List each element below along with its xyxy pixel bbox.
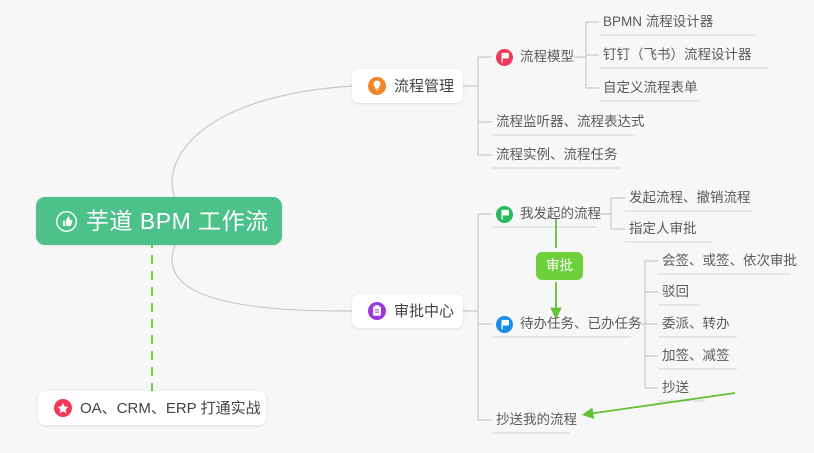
branch-label: 流程管理: [394, 79, 454, 94]
root-label: 芋道 BPM 工作流: [86, 210, 269, 233]
approval-badge[interactable]: 审批: [536, 252, 583, 280]
node-label: 待办任务、已办任务: [520, 317, 642, 331]
node-reject[interactable]: 驳回: [658, 278, 695, 306]
node-label: 加签、减签: [662, 349, 730, 363]
approval-badge-label: 审批: [546, 259, 573, 273]
node-oa-crm-erp[interactable]: OA、CRM、ERP 打通实战: [38, 391, 266, 425]
node-my-initiated-process[interactable]: 我发起的流程: [492, 200, 607, 228]
node-label: BPMN 流程设计器: [603, 15, 713, 29]
node-label: 自定义流程表单: [603, 81, 698, 95]
node-todo-done-tasks[interactable]: 待办任务、已办任务: [492, 310, 648, 338]
node-label: 流程监听器、流程表达式: [496, 115, 645, 129]
branch-approval-center[interactable]: 审批中心: [352, 294, 463, 328]
branch-process-management[interactable]: 流程管理: [352, 69, 463, 103]
node-process-instance-task[interactable]: 流程实例、流程任务: [492, 141, 624, 169]
node-cc[interactable]: 抄送: [658, 374, 695, 402]
node-countersign-orsign-sequential[interactable]: 会签、或签、依次审批: [658, 247, 803, 275]
node-bpmn-designer[interactable]: BPMN 流程设计器: [599, 8, 719, 36]
flag-icon: [496, 49, 513, 66]
mindmap-canvas: 芋道 BPM 工作流 流程管理 审批中心 流程模型: [0, 0, 814, 453]
link-root-to-approval-center: [172, 245, 352, 311]
node-label: 指定人审批: [629, 222, 697, 236]
node-label: 流程实例、流程任务: [496, 148, 618, 162]
node-label: 抄送: [662, 381, 689, 395]
node-assignee-approval[interactable]: 指定人审批: [625, 215, 703, 243]
thumbs-up-icon: [56, 211, 77, 232]
node-label: 我发起的流程: [520, 207, 601, 221]
node-label: 抄送我的流程: [496, 413, 577, 427]
node-cc-to-me-process[interactable]: 抄送我的流程: [492, 406, 583, 434]
root-node[interactable]: 芋道 BPM 工作流: [36, 197, 282, 245]
lightbulb-icon: [368, 77, 386, 95]
node-custom-process-form[interactable]: 自定义流程表单: [599, 74, 704, 102]
flag-icon: [496, 206, 513, 223]
node-label: 会签、或签、依次审批: [662, 254, 797, 268]
clipboard-icon: [368, 302, 386, 320]
node-label: OA、CRM、ERP 打通实战: [80, 401, 261, 416]
flag-icon: [496, 316, 513, 333]
node-add-remove-sign[interactable]: 加签、减签: [658, 342, 736, 370]
star-icon: [54, 399, 72, 417]
node-process-model[interactable]: 流程模型: [492, 43, 580, 71]
node-start-cancel-process[interactable]: 发起流程、撤销流程: [625, 184, 757, 212]
link-root-to-process-management: [172, 86, 352, 198]
node-label: 流程模型: [520, 50, 574, 64]
node-process-listener-expression[interactable]: 流程监听器、流程表达式: [492, 108, 651, 136]
node-label: 委派、转办: [662, 317, 730, 331]
node-label: 发起流程、撤销流程: [629, 191, 751, 205]
node-dingtalk-feishu-designer[interactable]: 钉钉（飞书）流程设计器: [599, 41, 758, 69]
node-delegate-transfer[interactable]: 委派、转办: [658, 310, 736, 338]
node-label: 驳回: [662, 285, 689, 299]
branch-label: 审批中心: [394, 304, 454, 319]
node-label: 钉钉（飞书）流程设计器: [603, 48, 752, 62]
